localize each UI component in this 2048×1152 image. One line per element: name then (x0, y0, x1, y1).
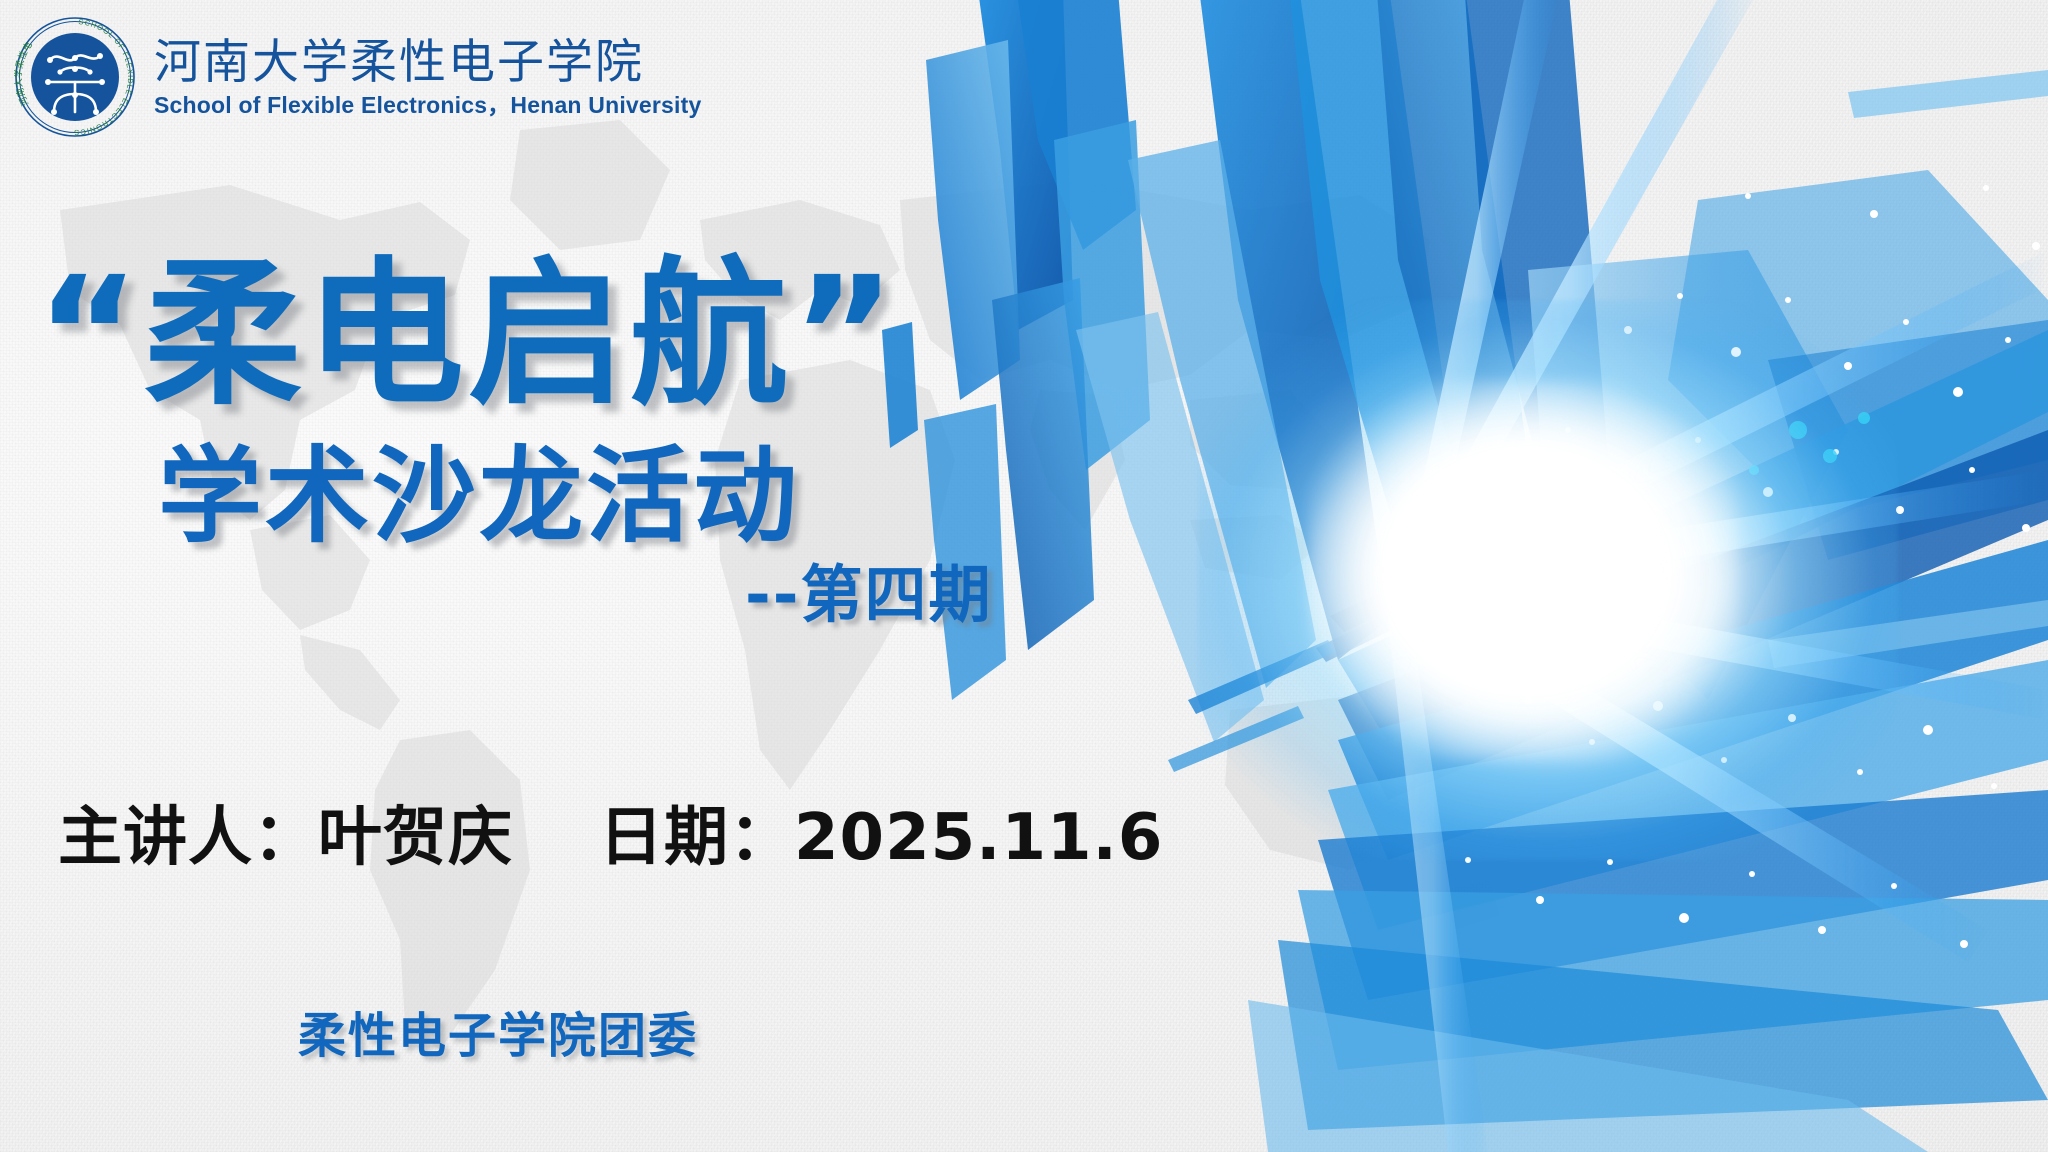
henan-university-flexible-electronics-emblem-icon: 河南大学柔性电子学院 SCHOOL OF FLEXIBLE ELECTRONIC… (14, 16, 136, 138)
page-subtitle: 学术沙龙活动 (0, 442, 1120, 551)
page-title: “柔电启航” (0, 255, 1120, 416)
brand-wordmark: 河南大学柔性电子学院 School of Flexible Electronic… (154, 34, 702, 119)
organizer-label: 柔性电子学院团委 (298, 996, 698, 1066)
speaker-label: 主讲人： (58, 786, 318, 878)
headline-block: “柔电启航” 学术沙龙活动 --第四期 (0, 255, 1120, 630)
slide-canvas: 河南大学柔性电子学院 SCHOOL OF FLEXIBLE ELECTRONIC… (0, 0, 2048, 1152)
brand-name-cn: 河南大学柔性电子学院 (154, 38, 702, 88)
date-value: 2025.11.6 (794, 801, 1163, 875)
svg-text:河南大学柔性电子学院: 河南大学柔性电子学院 (14, 16, 35, 108)
brand-logo: 河南大学柔性电子学院 SCHOOL OF FLEXIBLE ELECTRONIC… (14, 16, 702, 138)
speaker-name: 叶贺庆 (318, 786, 513, 878)
episode-label: --第四期 (0, 561, 1120, 629)
brand-name-en: School of Flexible Electronics，Henan Uni… (154, 92, 702, 120)
event-meta: 主讲人： 叶贺庆 日期： 2025.11.6 (58, 786, 1163, 878)
date-label: 日期： (599, 786, 794, 878)
